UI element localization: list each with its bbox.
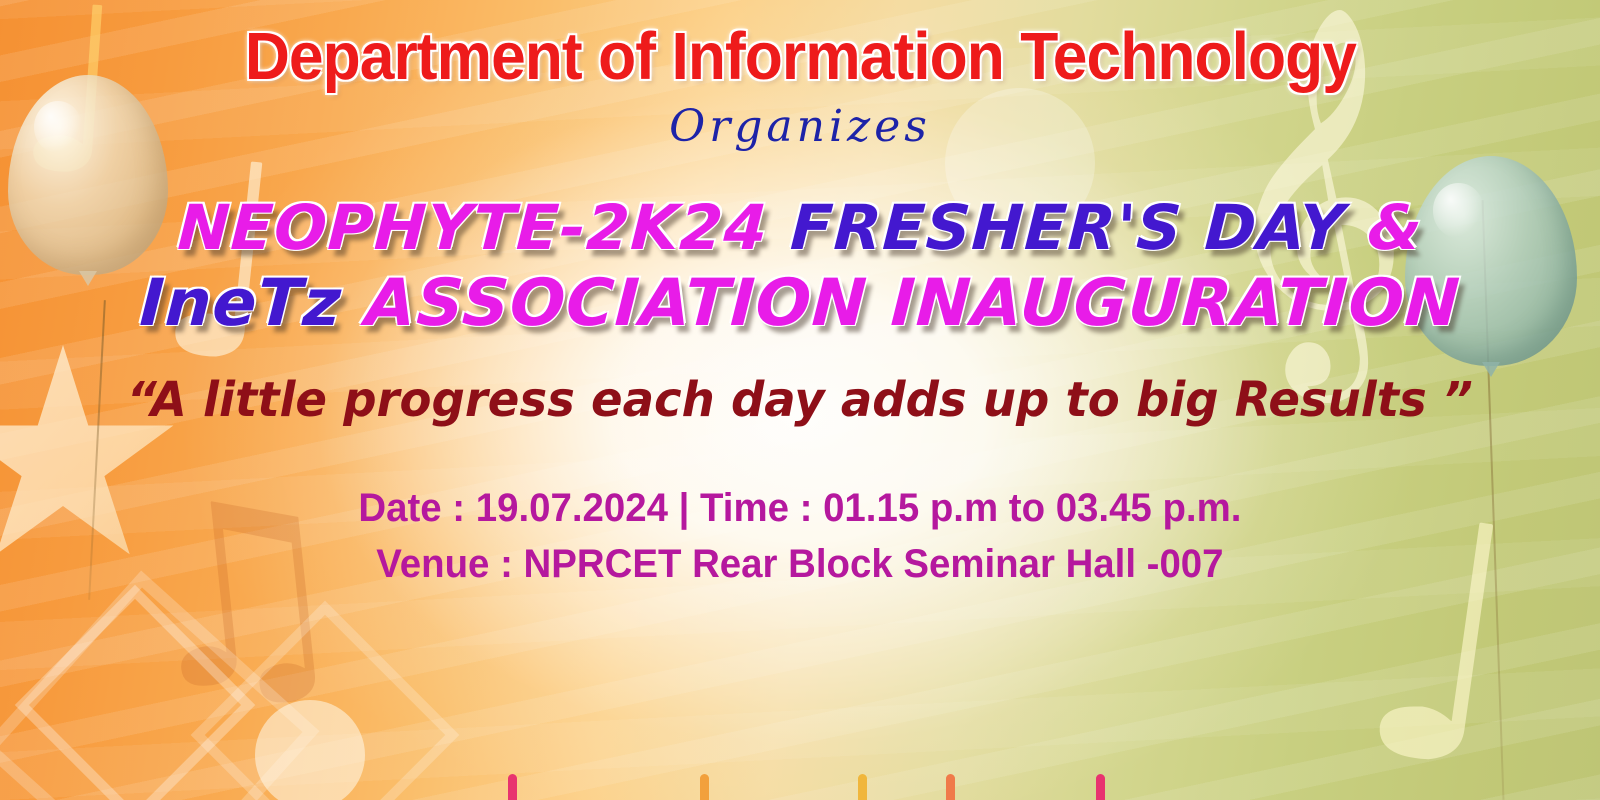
event-name-neophyte: NEOPHYTE-2K24 <box>176 191 770 264</box>
event-date-time: Date : 19.07.2024 | Time : 01.15 p.m to … <box>358 480 1241 536</box>
event-name-freshers-day: FRESHER'S DAY <box>788 191 1346 264</box>
event-poster: ♩ ♩ ♫ 𝄞 ♩ Department of Information Tech… <box>0 0 1600 800</box>
association-inauguration: ASSOCIATION INAUGURATION <box>363 266 1462 341</box>
event-quote: “A little progress each day adds up to b… <box>127 372 1473 428</box>
event-details: Date : 19.07.2024 | Time : 01.15 p.m to … <box>358 480 1241 592</box>
event-title-line-1: NEOPHYTE-2K24 FRESHER'S DAY & <box>176 196 1424 259</box>
association-name-inetz: IneTz <box>138 266 344 341</box>
organizes-label: Organizes <box>669 101 931 152</box>
event-venue: Venue : NPRCET Rear Block Seminar Hall -… <box>358 536 1241 592</box>
ampersand: & <box>1365 191 1424 264</box>
page-title: Department of Information Technology <box>244 18 1355 95</box>
event-title-line-2: IneTz ASSOCIATION INAUGURATION <box>138 271 1462 337</box>
poster-content: Department of Information Technology Org… <box>0 0 1600 800</box>
